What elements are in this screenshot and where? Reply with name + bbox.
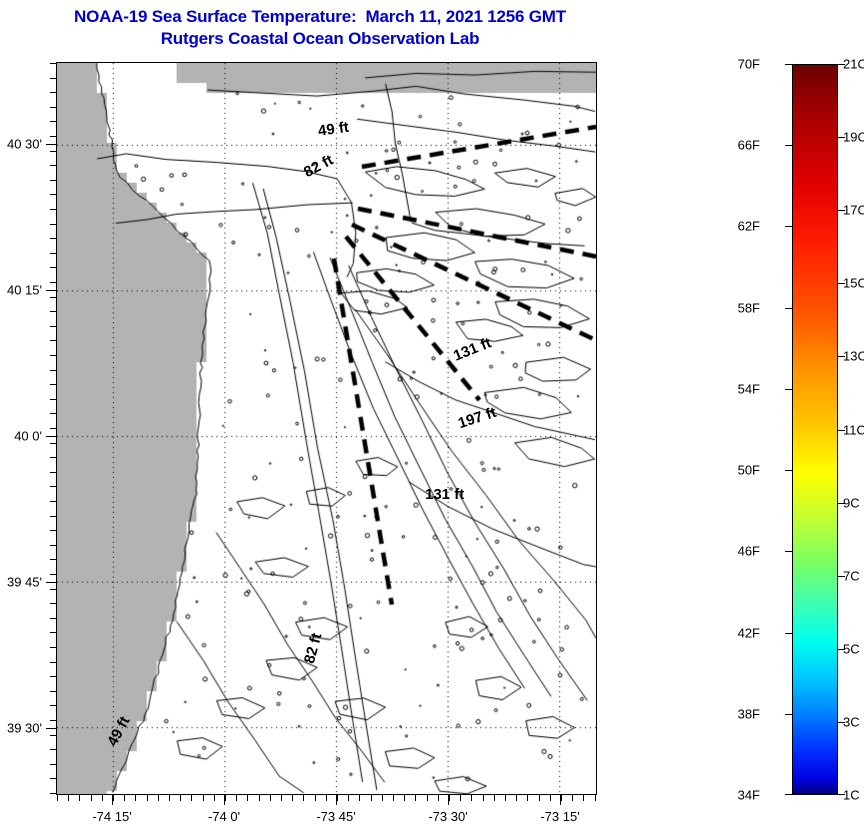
colorbar (792, 64, 838, 795)
x-tick-minor (191, 795, 192, 801)
x-tick-minor (460, 795, 461, 801)
colorbar-label-f: 50F (738, 463, 760, 478)
colorbar-label-c: 9C (843, 495, 860, 510)
colorbar-label-c: 15C (843, 276, 864, 291)
colorbar-celsius-labels: 21C19C17C15C13C11C9C7C5C3C1C (843, 0, 864, 731)
y-tick-minor (50, 735, 56, 736)
colorbar-label-c: 19C (843, 130, 864, 145)
y-tick-minor (50, 764, 56, 765)
x-axis-label: -73 30' (428, 809, 467, 824)
colorbar-label-f: 58F (738, 300, 760, 315)
x-tick-minor (203, 795, 204, 801)
x-tick-minor (371, 795, 372, 801)
colorbar-label-f: 38F (738, 706, 760, 721)
x-axis-label: -73 45' (316, 809, 355, 824)
colorbar-label-f: 54F (738, 381, 760, 396)
x-tick-major (336, 795, 337, 805)
x-tick-minor (158, 795, 159, 801)
x-tick-minor (102, 795, 103, 801)
x-tick-minor (326, 795, 327, 801)
x-tick-minor (57, 795, 58, 801)
x-tick-minor (180, 795, 181, 801)
x-tick-minor (516, 795, 517, 801)
colorbar-label-c: 13C (843, 349, 864, 364)
x-tick-minor (561, 795, 562, 801)
x-tick-major (560, 795, 561, 805)
x-tick-minor (348, 795, 349, 801)
x-tick-minor (169, 795, 170, 801)
x-tick-minor (505, 795, 506, 801)
x-tick-minor (404, 795, 405, 801)
x-axis-label: -74 15' (92, 809, 131, 824)
colorbar-gradient (792, 64, 838, 795)
colorbar-label-f: 66F (738, 138, 760, 153)
colorbar-label-f: 42F (738, 625, 760, 640)
colorbar-label-c: 11C (843, 422, 864, 437)
x-tick-minor (595, 795, 596, 801)
x-tick-minor (113, 795, 114, 801)
x-tick-minor (91, 795, 92, 801)
x-tick-minor (315, 795, 316, 801)
x-tick-minor (427, 795, 428, 801)
colorbar-label-c: 3C (843, 714, 860, 729)
x-tick-minor (471, 795, 472, 801)
x-tick-minor (415, 795, 416, 801)
x-tick-minor (393, 795, 394, 801)
x-tick-minor (68, 795, 69, 801)
x-tick-minor (527, 795, 528, 801)
x-tick-minor (550, 795, 551, 801)
x-tick-minor (337, 795, 338, 801)
x-tick-minor (438, 795, 439, 801)
x-tick-minor (494, 795, 495, 801)
colorbar-label-f: 46F (738, 544, 760, 559)
colorbar-tick-f (785, 794, 792, 795)
x-tick-minor (483, 795, 484, 801)
x-axis-label: -73 15' (540, 809, 579, 824)
x-tick-minor (382, 795, 383, 801)
y-tick-minor (50, 749, 56, 750)
colorbar-label-c: 5C (843, 641, 860, 656)
x-tick-minor (583, 795, 584, 801)
x-tick-minor (79, 795, 80, 801)
colorbar-fahrenheit-labels: 70F66F62F58F54F50F46F42F38F34F (0, 0, 792, 731)
x-tick-minor (449, 795, 450, 801)
x-tick-minor (281, 795, 282, 801)
x-tick-minor (214, 795, 215, 801)
colorbar-label-c: 7C (843, 568, 860, 583)
colorbar-label-c: 21C (843, 57, 864, 72)
x-tick-major (448, 795, 449, 805)
x-tick-minor (539, 795, 540, 801)
x-tick-minor (124, 795, 125, 801)
x-tick-major (224, 795, 225, 805)
x-tick-minor (225, 795, 226, 801)
colorbar-label-f: 70F (738, 57, 760, 72)
x-tick-major (112, 795, 113, 805)
colorbar-label-f: 34F (738, 788, 760, 803)
x-tick-minor (303, 795, 304, 801)
x-tick-minor (236, 795, 237, 801)
x-tick-minor (292, 795, 293, 801)
x-tick-minor (572, 795, 573, 801)
colorbar-label-c: 17C (843, 203, 864, 218)
x-tick-minor (270, 795, 271, 801)
x-tick-minor (135, 795, 136, 801)
x-tick-minor (359, 795, 360, 801)
x-tick-minor (247, 795, 248, 801)
colorbar-label-c: 1C (843, 788, 860, 803)
x-tick-minor (147, 795, 148, 801)
y-tick-minor (50, 793, 56, 794)
colorbar-label-f: 62F (738, 219, 760, 234)
x-tick-minor (259, 795, 260, 801)
x-axis-label: -74 0' (208, 809, 240, 824)
y-tick-minor (50, 778, 56, 779)
